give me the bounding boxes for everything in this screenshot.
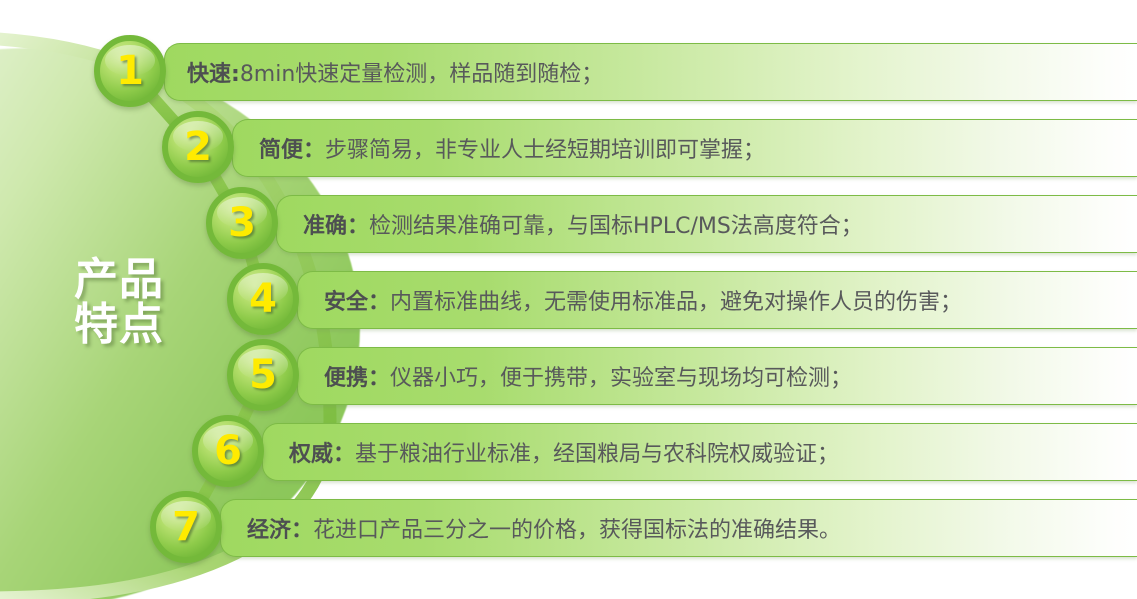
- feature-text-1: 快速: 8min快速定量检测，样品随到随检；: [165, 44, 1137, 100]
- feature-row-1: 快速: 8min快速定量检测，样品随到随检； 1: [164, 43, 1137, 101]
- feature-bar-3: 准确：检测结果准确可靠，与国标HPLC/MS法高度符合；: [276, 195, 1137, 253]
- feature-bubble-2[interactable]: 2: [162, 111, 234, 183]
- feature-number-6: 6: [214, 431, 242, 471]
- feature-number-2: 2: [184, 127, 212, 167]
- feature-label-4: 安全：: [324, 284, 390, 316]
- feature-row-4: 安全：内置标准曲线，无需使用标准品，避免对操作人员的伤害； 4: [297, 271, 1137, 329]
- feature-label-2: 简便：: [259, 132, 325, 164]
- feature-label-7: 经济：: [247, 512, 313, 544]
- feature-body-4: 内置标准曲线，无需使用标准品，避免对操作人员的伤害；: [390, 284, 962, 316]
- feature-label-1: 快速:: [187, 56, 240, 88]
- feature-bubble-4[interactable]: 4: [227, 263, 299, 335]
- feature-body-2: 步骤简易，非专业人士经短期培训即可掌握；: [325, 132, 765, 164]
- feature-label-5: 便携：: [324, 360, 390, 392]
- feature-label-6: 权威：: [289, 436, 355, 468]
- feature-bar-6: 权威：基于粮油行业标准，经国粮局与农科院权威验证；: [262, 423, 1137, 481]
- page-title-line-1: 产品: [44, 258, 194, 303]
- feature-label-3: 准确：: [303, 208, 369, 240]
- feature-bar-5: 便携：仪器小巧，便于携带，实验室与现场均可检测；: [297, 347, 1137, 405]
- feature-body-6: 基于粮油行业标准，经国粮局与农科院权威验证；: [355, 436, 839, 468]
- feature-bar-1: 快速: 8min快速定量检测，样品随到随检；: [164, 43, 1137, 101]
- feature-bar-7: 经济：花进口产品三分之一的价格，获得国标法的准确结果。: [220, 499, 1137, 557]
- feature-text-6: 权威：基于粮油行业标准，经国粮局与农科院权威验证；: [263, 424, 1137, 480]
- feature-number-3: 3: [228, 203, 256, 243]
- feature-text-4: 安全：内置标准曲线，无需使用标准品，避免对操作人员的伤害；: [298, 272, 1137, 328]
- feature-text-2: 简便：步骤简易，非专业人士经短期培训即可掌握；: [233, 120, 1137, 176]
- feature-row-3: 准确：检测结果准确可靠，与国标HPLC/MS法高度符合； 3: [276, 195, 1137, 253]
- feature-row-5: 便携：仪器小巧，便于携带，实验室与现场均可检测； 5: [297, 347, 1137, 405]
- feature-bubble-1[interactable]: 1: [94, 35, 166, 107]
- feature-text-5: 便携：仪器小巧，便于携带，实验室与现场均可检测；: [298, 348, 1137, 404]
- feature-body-7: 花进口产品三分之一的价格，获得国标法的准确结果。: [313, 512, 841, 544]
- feature-row-7: 经济：花进口产品三分之一的价格，获得国标法的准确结果。 7: [220, 499, 1137, 557]
- feature-number-7: 7: [172, 507, 200, 547]
- feature-bubble-5[interactable]: 5: [227, 339, 299, 411]
- feature-text-7: 经济：花进口产品三分之一的价格，获得国标法的准确结果。: [221, 500, 1137, 556]
- feature-body-3: 检测结果准确可靠，与国标HPLC/MS法高度符合；: [369, 208, 863, 240]
- feature-number-1: 1: [116, 51, 144, 91]
- feature-bubble-3[interactable]: 3: [206, 187, 278, 259]
- feature-number-5: 5: [249, 355, 277, 395]
- feature-bar-4: 安全：内置标准曲线，无需使用标准品，避免对操作人员的伤害；: [297, 271, 1137, 329]
- feature-row-2: 简便：步骤简易，非专业人士经短期培训即可掌握； 2: [232, 119, 1137, 177]
- page-title-line-2: 特点: [44, 303, 194, 348]
- feature-bar-2: 简便：步骤简易，非专业人士经短期培训即可掌握；: [232, 119, 1137, 177]
- page-title: 产品 特点: [44, 258, 194, 348]
- feature-text-3: 准确：检测结果准确可靠，与国标HPLC/MS法高度符合；: [277, 196, 1137, 252]
- infographic-canvas: 产品 特点 快速: 8min快速定量检测，样品随到随检； 1 简便：步骤简易，非…: [0, 0, 1137, 599]
- feature-bubble-6[interactable]: 6: [192, 415, 264, 487]
- feature-body-5: 仪器小巧，便于携带，实验室与现场均可检测；: [390, 360, 852, 392]
- feature-bubble-7[interactable]: 7: [150, 491, 222, 563]
- feature-number-4: 4: [249, 279, 277, 319]
- feature-body-1: 8min快速定量检测，样品随到随检；: [240, 56, 604, 88]
- feature-row-6: 权威：基于粮油行业标准，经国粮局与农科院权威验证； 6: [262, 423, 1137, 481]
